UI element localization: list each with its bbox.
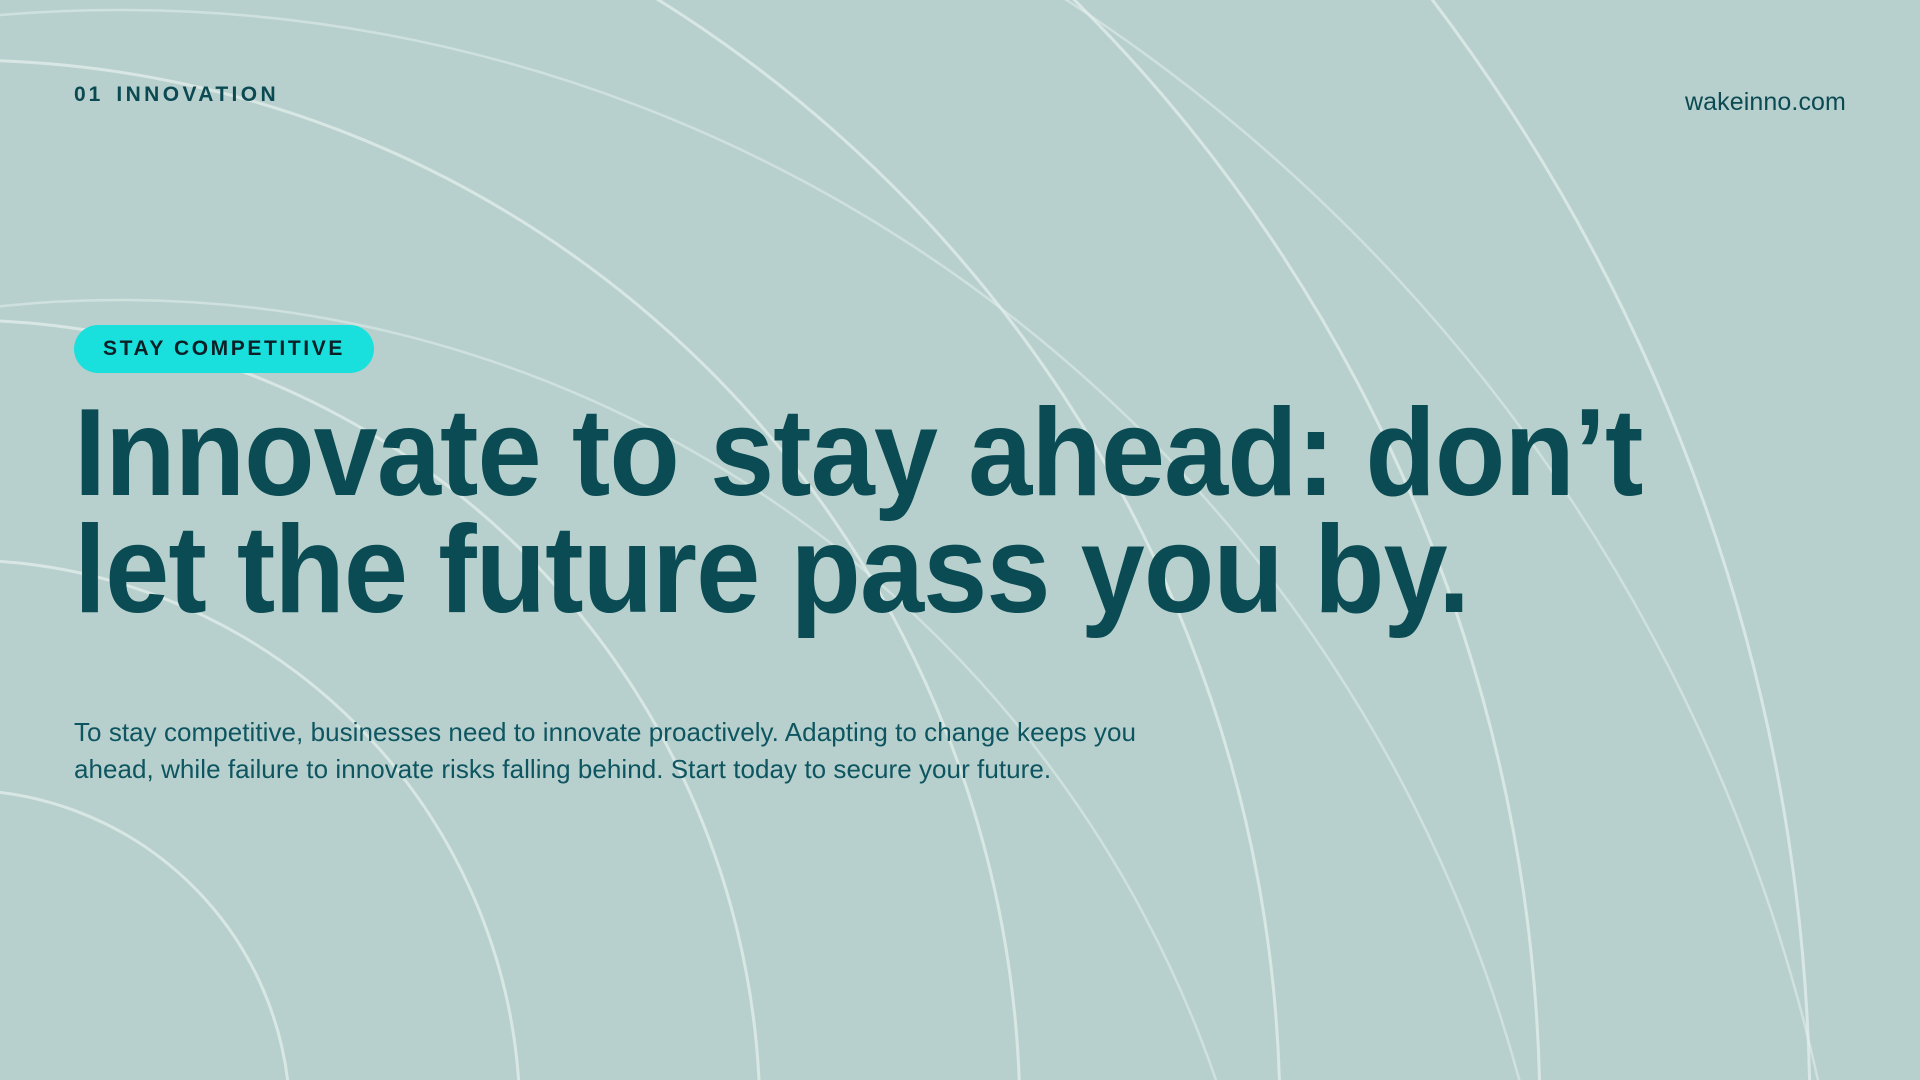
section-label: 01 INNOVATION bbox=[74, 83, 279, 107]
site-url-link[interactable]: wakeinno.com bbox=[1685, 88, 1846, 117]
headline-line-2: let the future pass you by. bbox=[74, 512, 1739, 629]
slide-header: 01 INNOVATION wakeinno.com bbox=[0, 0, 1920, 150]
headline-line-1: Innovate to stay ahead: don’t bbox=[74, 395, 1739, 512]
body-line-2: ahead, while failure to innovate risks f… bbox=[74, 751, 1334, 788]
body-paragraph: To stay competitive, businesses need to … bbox=[74, 714, 1334, 788]
slide-canvas: 01 INNOVATION wakeinno.com STAY COMPETIT… bbox=[0, 0, 1920, 1080]
slide-main-content: STAY COMPETITIVE Innovate to stay ahead:… bbox=[74, 325, 1864, 788]
page-title: Innovate to stay ahead: don’t let the fu… bbox=[74, 395, 1739, 628]
section-number: 01 bbox=[74, 83, 103, 107]
body-line-1: To stay competitive, businesses need to … bbox=[74, 714, 1334, 751]
section-name: INNOVATION bbox=[116, 83, 279, 107]
status-badge: STAY COMPETITIVE bbox=[74, 325, 374, 373]
